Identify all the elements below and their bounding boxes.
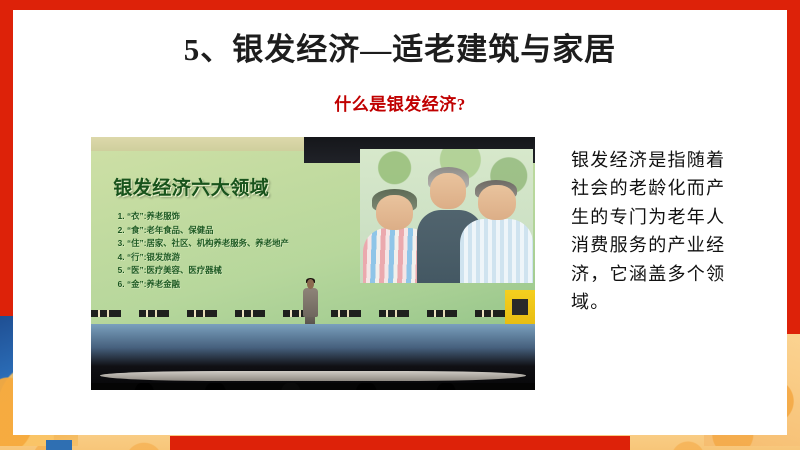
stage-front: [91, 324, 535, 390]
conference-photo: 银发经济六大领域 1. “衣”:养老服饰 2. “食”:老年食品、保健品 3.: [91, 137, 535, 390]
page-title: 5、银发经济—适老建筑与家居: [13, 24, 787, 69]
list-item-number: 5.: [118, 265, 125, 275]
list-item: 6. “金”:养老金融: [118, 278, 289, 292]
list-item-text: 养老金融: [147, 279, 181, 289]
list-item-label: “衣”: [127, 211, 144, 221]
decorative-bottom-red-strip: [170, 436, 630, 450]
content-card: 5、银发经济—适老建筑与家居 什么是银发经济? 银发经济六大领域 1. “衣”:…: [13, 10, 787, 435]
yellow-stage-sign: [505, 290, 535, 324]
list-item-number: 2.: [118, 225, 125, 235]
list-item-label: “食”: [127, 225, 144, 235]
list-item-text: 银发旅游: [147, 252, 181, 262]
description-text: 银发经济是指随着社会的老龄化而产生的专门为老年人消费服务的产业经济，它涵盖多个领…: [571, 146, 731, 317]
list-item-label: “行”: [127, 252, 144, 262]
face: [478, 185, 516, 220]
led-slide-title: 银发经济六大领域: [113, 173, 269, 200]
list-item-text: 居家、社区、机构养老服务、养老地产: [147, 238, 289, 248]
decorative-blue-dot: [46, 440, 72, 450]
stage-floor: [100, 371, 526, 381]
page-subtitle: 什么是银发经济?: [13, 90, 787, 115]
led-slide-list: 1. “衣”:养老服饰 2. “食”:老年食品、保健品 3. “住”:居家、社区…: [118, 210, 289, 292]
list-item-number: 6.: [118, 279, 125, 289]
list-item-label: “住”: [127, 238, 144, 248]
list-item-text: 老年食品、保健品: [147, 225, 214, 235]
list-item-label: “医”: [127, 265, 144, 275]
list-item: 4. “行”:银发旅游: [118, 251, 289, 265]
list-item: 2. “食”:老年食品、保健品: [118, 224, 289, 238]
elderly-man-right: [460, 173, 533, 283]
face: [376, 195, 413, 230]
light-shirt: [460, 219, 533, 283]
list-item: 3. “住”:居家、社区、机构养老服务、养老地产: [118, 237, 289, 251]
audience-silhouettes: [91, 383, 535, 390]
list-item: 1. “衣”:养老服饰: [118, 210, 289, 224]
list-item-number: 4.: [118, 252, 125, 262]
list-item-text: 养老服饰: [147, 211, 181, 221]
list-item-text: 医疗美容、医疗器械: [147, 265, 222, 275]
slide-root: 5、银发经济—适老建筑与家居 什么是银发经济? 银发经济六大领域 1. “衣”:…: [0, 0, 800, 450]
list-item-number: 3.: [118, 238, 125, 248]
speaker-suit: [303, 288, 318, 317]
speaker-head: [307, 279, 314, 289]
list-item-label: “金”: [127, 279, 144, 289]
elderly-trio-photo: [360, 149, 533, 283]
list-item: 5. “医”:医疗美容、医疗器械: [118, 264, 289, 278]
list-item-number: 1.: [118, 211, 125, 221]
